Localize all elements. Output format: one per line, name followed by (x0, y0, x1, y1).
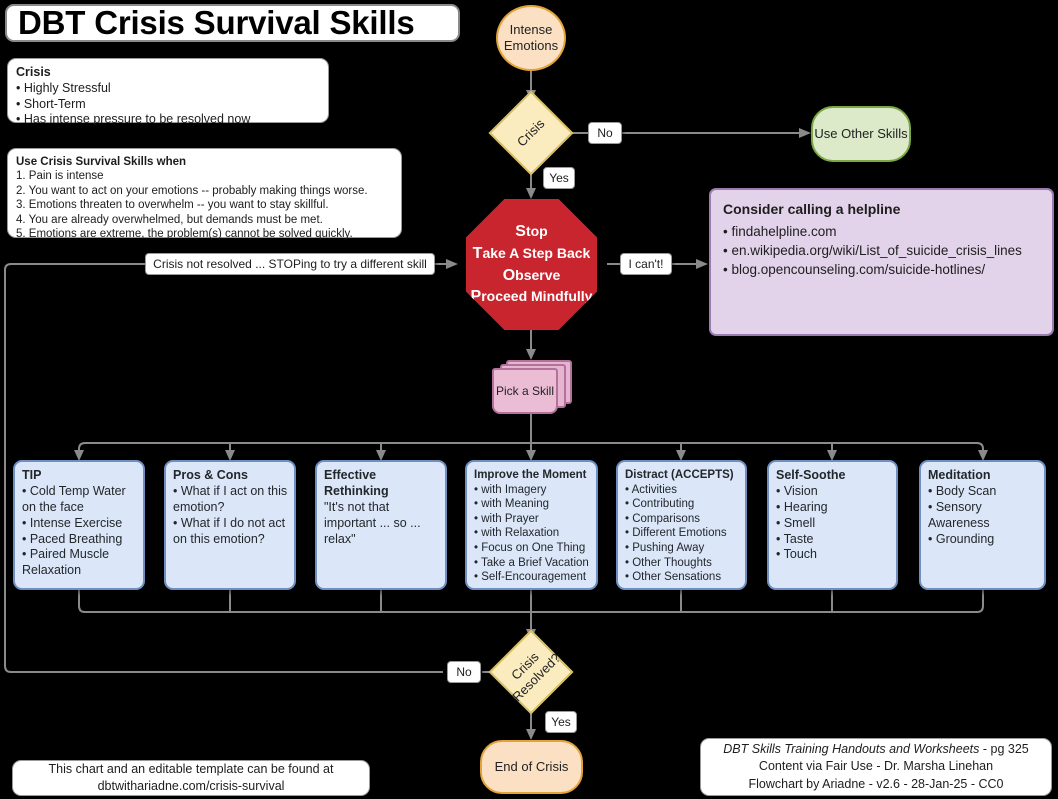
skill-card-improve-item-6: • Take a Brief Vacation (474, 556, 590, 571)
skill-card-self-soothe-item-2: • Hearing (776, 500, 890, 516)
stop-letter-p: P (471, 288, 482, 305)
panel-helpline: Consider calling a helpline • findahelpl… (709, 188, 1054, 336)
note-when-line-2: 2. You want to act on your emotions -- p… (16, 185, 368, 197)
pick-a-skill-sheet-front: Pick a Skill (492, 368, 558, 414)
node-pick-a-skill-label: Pick a Skill (496, 384, 554, 398)
node-intense-emotions[interactable]: Intense Emotions (496, 5, 566, 71)
edge-label-no-top-text: No (597, 126, 612, 140)
skill-card-tip-item-4: • Paired Muscle Relaxation (22, 547, 137, 579)
edge-label-no-bottom-text: No (456, 665, 471, 679)
skill-card-improve-item-2: • with Meaning (474, 497, 590, 512)
note-crisis-definition: Crisis • Highly Stressful • Short-Term •… (7, 58, 329, 123)
node-use-other-skills[interactable]: Use Other Skills (811, 106, 911, 162)
skill-card-tip-heading: TIP (22, 468, 137, 484)
skill-card-self-soothe-item-1: • Vision (776, 484, 890, 500)
helpline-item-1[interactable]: • findahelpline.com (723, 222, 1040, 241)
note-crisis-line-2: • Short-Term (16, 97, 86, 111)
skill-card-pros-cons-item-1: • What if I act on this emotion? (173, 484, 288, 516)
skill-card-distract-item-3: • Comparisons (625, 512, 739, 527)
skill-card-self-soothe-item-5: • Touch (776, 547, 890, 563)
skill-card-tip-item-1: • Cold Temp Water on the face (22, 484, 137, 516)
node-crisis-decision[interactable]: Crisis (489, 91, 573, 175)
skill-card-self-soothe-item-3: • Smell (776, 516, 890, 532)
footer-right-line-2: Content via Fair Use - Dr. Marsha Lineha… (759, 758, 993, 775)
note-when-to-use: Use Crisis Survival Skills when 1. Pain … (7, 148, 402, 238)
edge-label-retry: Crisis not resolved ... STOPing to try a… (145, 253, 435, 275)
skill-card-distract-accepts[interactable]: Distract (ACCEPTS) • Activities • Contri… (616, 460, 747, 590)
helpline-item-2[interactable]: • en.wikipedia.org/wiki/List_of_suicide_… (723, 241, 1040, 260)
skill-card-distract-item-6: • Other Thoughts (625, 556, 739, 571)
footer-source-page: - pg 325 (979, 742, 1028, 756)
skill-card-improve-item-3: • with Prayer (474, 512, 590, 527)
edge-label-i-cant-text: I can't! (629, 257, 664, 271)
page-title: DBT Crisis Survival Skills (5, 4, 460, 42)
stop-letter-s: S (515, 223, 526, 240)
skill-card-pros-cons-item-2: • What if I do not act on this emotion? (173, 516, 288, 548)
skill-card-improve-item-5: • Focus on One Thing (474, 541, 590, 556)
skill-card-effective-rethinking-item-1: "It's not that important ... so ... rela… (324, 500, 439, 548)
note-when-line-1: 1. Pain is intense (16, 170, 104, 182)
skill-card-distract-item-1: • Activities (625, 483, 739, 498)
skill-card-meditation-item-2: • Sensory Awareness (928, 500, 1038, 532)
edge-label-yes-bottom-text: Yes (551, 715, 571, 729)
stop-word-take: ake A Step Back (482, 245, 590, 261)
skill-card-pros-cons-heading: Pros & Cons (173, 468, 288, 484)
edge-label-retry-text: Crisis not resolved ... STOPing to try a… (153, 257, 427, 271)
edge-label-i-cant: I can't! (620, 253, 672, 275)
node-use-other-skills-label: Use Other Skills (814, 126, 907, 143)
skill-card-improve-the-moment[interactable]: Improve the Moment • with Imagery • with… (465, 460, 598, 590)
stop-word-proceed: roceed Mindfully (481, 288, 592, 304)
node-pick-a-skill[interactable]: Pick a Skill (492, 360, 574, 412)
node-stop-skill[interactable]: Stop Take A Step Back Observe Proceed Mi… (466, 199, 597, 330)
skill-card-self-soothe-item-4: • Taste (776, 532, 890, 548)
skill-card-tip[interactable]: TIP • Cold Temp Water on the face • Inte… (13, 460, 145, 590)
helpline-heading: Consider calling a helpline (723, 200, 1040, 220)
footer-left-line-1: This chart and an editable template can … (49, 761, 334, 778)
footer-left-credit: This chart and an editable template can … (12, 760, 370, 796)
note-when-line-5: 5. Emotions are extreme, the problem(s) … (16, 228, 353, 240)
skill-card-distract-item-5: • Pushing Away (625, 541, 739, 556)
edge-label-yes-top: Yes (543, 167, 575, 189)
skill-card-meditation-heading: Meditation (928, 468, 1038, 484)
flowchart-canvas: DBT Crisis Survival Skills Crisis • High… (0, 0, 1058, 799)
footer-source-title: DBT Skills Training Handouts and Workshe… (723, 742, 979, 756)
note-crisis-line-1: • Highly Stressful (16, 81, 111, 95)
stop-letter-o: O (503, 267, 515, 284)
node-intense-emotions-label: Intense Emotions (498, 22, 564, 55)
helpline-item-3[interactable]: • blog.opencounseling.com/suicide-hotlin… (723, 260, 1040, 279)
stop-letter-t: T (473, 245, 483, 262)
skill-card-distract-item-2: • Contributing (625, 497, 739, 512)
edge-label-no-top: No (588, 122, 622, 144)
skill-card-tip-item-3: • Paced Breathing (22, 532, 137, 548)
node-end-of-crisis[interactable]: End of Crisis (480, 740, 583, 794)
edge-label-yes-bottom: Yes (545, 711, 577, 733)
skill-card-effective-rethinking-heading: Effective Rethinking (324, 468, 439, 500)
note-crisis-heading: Crisis (16, 65, 320, 81)
skill-card-effective-rethinking[interactable]: Effective Rethinking "It's not that impo… (315, 460, 447, 590)
skill-card-self-soothe[interactable]: Self-Soothe • Vision • Hearing • Smell •… (767, 460, 898, 590)
skill-card-improve-item-7: • Self-Encouragement (474, 570, 590, 585)
skill-card-distract-item-4: • Different Emotions (625, 526, 739, 541)
footer-right-attribution: DBT Skills Training Handouts and Workshe… (700, 738, 1052, 796)
skill-card-tip-item-2: • Intense Exercise (22, 516, 137, 532)
footer-right-line-1: DBT Skills Training Handouts and Workshe… (723, 741, 1028, 758)
stop-word-top: top (526, 223, 548, 239)
node-end-of-crisis-label: End of Crisis (495, 759, 569, 776)
skill-card-meditation[interactable]: Meditation • Body Scan • Sensory Awarene… (919, 460, 1046, 590)
edge-label-yes-top-text: Yes (549, 171, 569, 185)
node-crisis-resolved[interactable]: Crisis Resolved? (489, 630, 573, 714)
stop-word-observe: bserve (515, 267, 560, 283)
skill-card-improve-item-4: • with Relaxation (474, 526, 590, 541)
skill-card-distract-heading: Distract (ACCEPTS) (625, 468, 739, 483)
skill-card-meditation-item-1: • Body Scan (928, 484, 1038, 500)
note-when-heading: Use Crisis Survival Skills when (16, 155, 393, 169)
skill-card-self-soothe-heading: Self-Soothe (776, 468, 890, 484)
note-when-line-3: 3. Emotions threaten to overwhelm -- you… (16, 199, 329, 211)
skill-card-meditation-item-3: • Grounding (928, 532, 1038, 548)
skill-card-improve-item-1: • with Imagery (474, 483, 590, 498)
note-when-line-4: 4. You are already overwhelmed, but dema… (16, 214, 323, 226)
footer-right-line-3: Flowchart by Ariadne - v2.6 - 28-Jan-25 … (749, 776, 1004, 793)
skill-card-distract-item-7: • Other Sensations (625, 570, 739, 585)
node-crisis-resolved-label: Crisis Resolved? (472, 613, 591, 732)
skill-card-improve-the-moment-heading: Improve the Moment (474, 468, 590, 483)
skill-card-pros-cons[interactable]: Pros & Cons • What if I act on this emot… (164, 460, 296, 590)
footer-left-line-2[interactable]: dbtwithariadne.com/crisis-survival (98, 778, 285, 795)
note-crisis-line-3: • Has intense pressure to be resolved no… (16, 112, 250, 126)
